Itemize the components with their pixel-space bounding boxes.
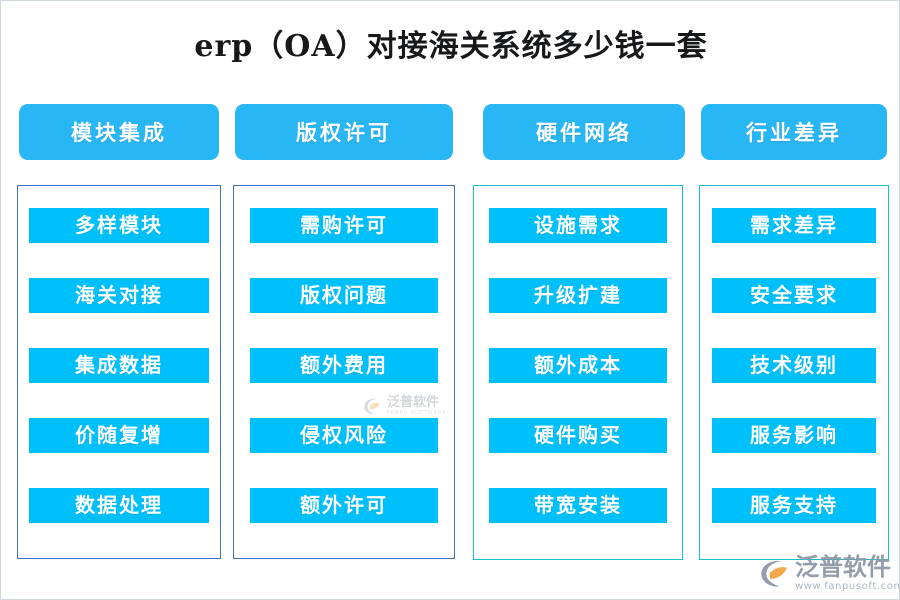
column-license: 需购许可 版权问题 额外费用 侵权风险 额外许可 <box>233 185 455 559</box>
header-row: 模块集成 版权许可 硬件网络 行业差异 <box>1 104 900 160</box>
item-pill[interactable]: 额外费用 <box>250 348 438 383</box>
item-pill[interactable]: 需购许可 <box>250 208 438 243</box>
item-pill[interactable]: 需求差异 <box>712 208 876 243</box>
column-items-list: 需求差异 安全要求 技术级别 服务影响 服务支持 <box>700 186 888 559</box>
item-pill[interactable]: 技术级别 <box>712 348 876 383</box>
column-items-list: 多样模块 海关对接 集成数据 价随复增 数据处理 <box>18 186 220 558</box>
header-pill-module-integration[interactable]: 模块集成 <box>19 104 219 160</box>
item-pill[interactable]: 额外许可 <box>250 488 438 523</box>
brand-url: www.fanpusoft.com <box>795 582 900 592</box>
fanpu-logo-icon <box>757 556 791 590</box>
column-items-list: 设施需求 升级扩建 额外成本 硬件购买 带宽安装 <box>474 186 682 559</box>
item-pill[interactable]: 升级扩建 <box>489 278 667 313</box>
item-pill[interactable]: 海关对接 <box>29 278 209 313</box>
item-pill[interactable]: 安全要求 <box>712 278 876 313</box>
header-pill-hardware-network[interactable]: 硬件网络 <box>483 104 685 160</box>
brand-name-cn: 泛普软件 <box>795 555 900 579</box>
item-pill[interactable]: 多样模块 <box>29 208 209 243</box>
item-pill[interactable]: 侵权风险 <box>250 418 438 453</box>
column-industry-difference: 需求差异 安全要求 技术级别 服务影响 服务支持 <box>699 185 889 560</box>
item-pill[interactable]: 带宽安装 <box>489 488 667 523</box>
item-pill[interactable]: 硬件购买 <box>489 418 667 453</box>
header-pill-industry-difference[interactable]: 行业差异 <box>701 104 887 160</box>
item-pill[interactable]: 服务影响 <box>712 418 876 453</box>
brand-text: 泛普软件 www.fanpusoft.com <box>795 555 900 592</box>
item-pill[interactable]: 版权问题 <box>250 278 438 313</box>
item-pill[interactable]: 数据处理 <box>29 488 209 523</box>
item-pill[interactable]: 价随复增 <box>29 418 209 453</box>
page-title: erp（OA）对接海关系统多少钱一套 <box>1 21 900 65</box>
header-pill-license[interactable]: 版权许可 <box>235 104 453 160</box>
item-pill[interactable]: 服务支持 <box>712 488 876 523</box>
column-items-list: 需购许可 版权问题 额外费用 侵权风险 额外许可 <box>234 186 454 558</box>
column-module-integration: 多样模块 海关对接 集成数据 价随复增 数据处理 <box>17 185 221 559</box>
column-hardware-network: 设施需求 升级扩建 额外成本 硬件购买 带宽安装 <box>473 185 683 560</box>
item-pill[interactable]: 额外成本 <box>489 348 667 383</box>
item-pill[interactable]: 集成数据 <box>29 348 209 383</box>
item-pill[interactable]: 设施需求 <box>489 208 667 243</box>
brand-logo: 泛普软件 www.fanpusoft.com <box>757 551 899 595</box>
infographic-page: erp（OA）对接海关系统多少钱一套 模块集成 版权许可 硬件网络 行业差异 多… <box>0 0 900 600</box>
